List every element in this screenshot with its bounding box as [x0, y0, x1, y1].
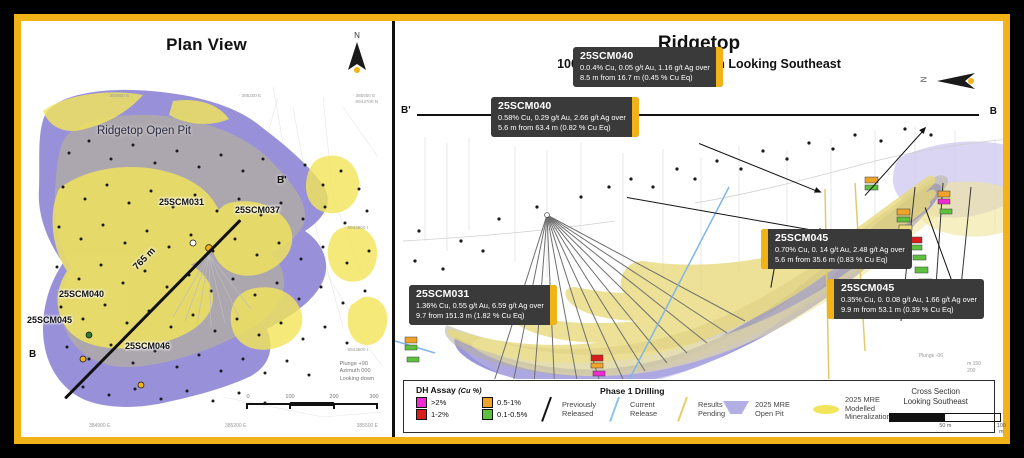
- callout-title: 25SCM045: [841, 282, 977, 295]
- callout-title: 25SCM040: [498, 100, 626, 113]
- legend-assay-item: 0.5-1%: [482, 397, 544, 408]
- plan-scalebar: 0 100 200 300: [246, 395, 378, 411]
- scalebar-tick: [246, 403, 248, 409]
- swatch-gt2pct: [416, 397, 427, 408]
- legend-xsec-l1: Cross Section: [877, 387, 994, 397]
- callout-title: 25SCM031: [416, 288, 544, 301]
- callout-25scm045-upper: 25SCM045 0.70% Cu, 0. 14 g/t Au, 2.48 g/…: [761, 229, 912, 269]
- legend-assay-label: 1-2%: [431, 410, 449, 419]
- swatch-05to1pct: [482, 397, 493, 408]
- coord-label: 385500 E: [357, 423, 378, 429]
- scalebar-label: 100: [285, 394, 294, 400]
- scalebar-tick: [376, 403, 378, 409]
- figure-root: Plan View N: [0, 0, 1024, 458]
- legend-strip: DH Assay (Cu %) >2% 0.5-1%: [395, 379, 1003, 437]
- coord-label: 6943500 I: [345, 347, 368, 352]
- coord-label: 6943700 N: [353, 99, 378, 104]
- callout-25scm040-lower: 25SCM040 0.58% Cu, 0.29 g/t Au, 2.66 g/t…: [491, 97, 639, 137]
- axis-tick-150: m 150: [967, 361, 981, 368]
- coord-label: 384900 E: [89, 423, 110, 429]
- legend-assay-rows: >2% 0.5-1% 1-2%: [416, 397, 544, 420]
- cross-section-panel: Ridgetop 100 m SW-NE Cross Section Looki…: [395, 21, 1003, 437]
- legend-phase1-heading: Phase 1 Drilling: [600, 386, 664, 396]
- scalebar-empty-half: [945, 414, 1000, 421]
- callout-25scm031: 25SCM031 1.36% Cu, 0.55 g/t Au, 6.59 g/t…: [409, 285, 557, 325]
- plan-view-title: Plan View: [21, 35, 392, 55]
- section-orientation-note: Plunge -06: [919, 353, 943, 359]
- gold-frame: Plan View N: [14, 14, 1010, 444]
- xsec-scale-label-100m: 100 m: [997, 423, 1006, 435]
- callout-line-1: 0.0.4% Cu, 0.05 g/t Au, 1.16 g/t Ag over: [580, 63, 710, 73]
- callout-line-2: 9.9 m from 53.1 m (0.39 % Cu Eq): [841, 305, 977, 315]
- north-arrow-glyph-section: [933, 71, 977, 91]
- figure-body: Plan View N: [21, 21, 1003, 437]
- legend-assay-item: >2%: [416, 397, 478, 408]
- legend-assay-item: 0.1-0.5%: [482, 409, 544, 420]
- scalebar-tick: [333, 403, 335, 409]
- section-line-label-b-prime: B': [277, 175, 287, 186]
- dh-label-25scm031: 25SCM031: [159, 197, 204, 207]
- north-arrow-icon-section: N: [921, 69, 977, 93]
- scalebar-block: [290, 402, 334, 406]
- callout-title: 25SCM040: [580, 50, 710, 63]
- legend-dh-assay: DH Assay (Cu %) >2% 0.5-1%: [404, 381, 544, 432]
- scalebar-label: 300: [369, 394, 378, 400]
- callout-line-1: 0.70% Cu, 0. 14 g/t Au, 2.48 g/t Ag over: [775, 245, 905, 255]
- plan-looking: Looking down: [339, 376, 374, 383]
- legend-xsec-l2: Looking Southeast: [877, 397, 994, 407]
- plan-view-panel: Plan View N: [21, 21, 395, 437]
- axis-tick-200: 200: [967, 368, 981, 375]
- legend-assay-label: >2%: [431, 398, 446, 407]
- callout-25scm040-upper: 25SCM040 0.0.4% Cu, 0.05 g/t Au, 1.16 g/…: [573, 47, 723, 87]
- xsec-scalebar: [889, 413, 1001, 422]
- mineralization-glyph-icon: [813, 405, 839, 414]
- plan-azimuth: Azimuth 000: [339, 368, 374, 375]
- plan-orientation-note: Plunge +90 Azimuth 000 Looking down: [339, 361, 374, 383]
- callout-line-2: 5.6 m from 35.6 m (0.83 % Cu Eq): [775, 255, 905, 265]
- section-plunge: Plunge -06: [919, 353, 943, 359]
- open-pit-label: Ridgetop Open Pit: [97, 125, 191, 137]
- section-line-label-b: B: [29, 349, 36, 360]
- scalebar-label: 200: [329, 394, 338, 400]
- legend-assay-label: 0.5-1%: [497, 398, 521, 407]
- legend-mre: 2025 MRE Open Pit 2025 MRE Modelled Mine…: [719, 381, 877, 432]
- legend-dh-assay-heading: DH Assay (Cu %): [416, 385, 544, 395]
- legend-dh-assay-title: DH Assay: [416, 385, 456, 395]
- dh-label-25scm040: 25SCM040: [59, 289, 104, 299]
- coord-label: 385200 E: [239, 93, 261, 98]
- callout-line-1: 0.58% Cu, 0.29 g/t Au, 2.66 g/t Ag over: [498, 113, 626, 123]
- north-arrow-label-section: N: [919, 77, 928, 83]
- open-pit-glyph-icon: [723, 401, 749, 414]
- coord-label: 384900 E: [107, 93, 129, 98]
- legend-assay-item: 1-2%: [416, 409, 478, 420]
- coord-label: 385200 E: [225, 423, 246, 429]
- legend-mre-open-pit: 2025 MRE Open Pit: [755, 401, 790, 418]
- callout-line-1: 1.36% Cu, 0.55 g/t Au, 6.59 g/t Ag over: [416, 301, 544, 311]
- callout-line-2: 8.5 m from 16.7 m (0.45 % Cu Eq): [580, 73, 710, 83]
- coord-label: 6943800 I: [345, 225, 368, 230]
- scalebar-label: 0: [246, 394, 249, 400]
- legend-dh-assay-unit: (Cu %): [458, 386, 481, 395]
- coord-label: 385500 E: [353, 93, 375, 98]
- xsec-scale-label-50m: 50 m: [939, 423, 951, 429]
- swatch-01to05pct: [482, 409, 493, 420]
- scalebar-filled-half: [890, 414, 945, 421]
- legend-assay-label: 0.1-0.5%: [497, 410, 527, 419]
- dh-label-25scm037: 25SCM037: [235, 205, 280, 215]
- plan-map-canvas: 384900 E 385200 E 385500 E 6943700 N 694…: [23, 67, 390, 397]
- section-axis-ticks: m 150 200: [967, 361, 981, 375]
- dh-label-25scm046: 25SCM046: [125, 341, 170, 351]
- legend-cross-section-scale: Cross Section Looking Southeast 50 m 100…: [877, 381, 994, 432]
- dh-label-25scm045: 25SCM045: [27, 315, 72, 325]
- swatch-1to2pct: [416, 409, 427, 420]
- plan-plunge: Plunge +90: [339, 361, 374, 368]
- legend-open-pit-l2: Open Pit: [755, 410, 790, 419]
- legend-xsec-heading: Cross Section Looking Southeast: [877, 387, 994, 406]
- callout-line-2: 5.6 m from 63.4 m (0.82 % Cu Eq): [498, 123, 626, 133]
- callout-title: 25SCM045: [775, 232, 905, 245]
- callout-line-1: 0.35% Cu, 0. 0.08 g/t Au, 1.66 g/t Ag ov…: [841, 295, 977, 305]
- legend-phase1-drilling: Phase 1 Drilling Previously Released Cur…: [544, 381, 719, 432]
- callout-line-2: 9.7 from 151.3 m (1.82 % Cu Eq): [416, 311, 544, 321]
- north-arrow-label: N: [344, 31, 370, 40]
- callout-25scm045-lower: 25SCM045 0.35% Cu, 0. 0.08 g/t Au, 1.66 …: [827, 279, 984, 319]
- legend-box: DH Assay (Cu %) >2% 0.5-1%: [403, 380, 995, 433]
- scalebar-tick: [289, 403, 291, 409]
